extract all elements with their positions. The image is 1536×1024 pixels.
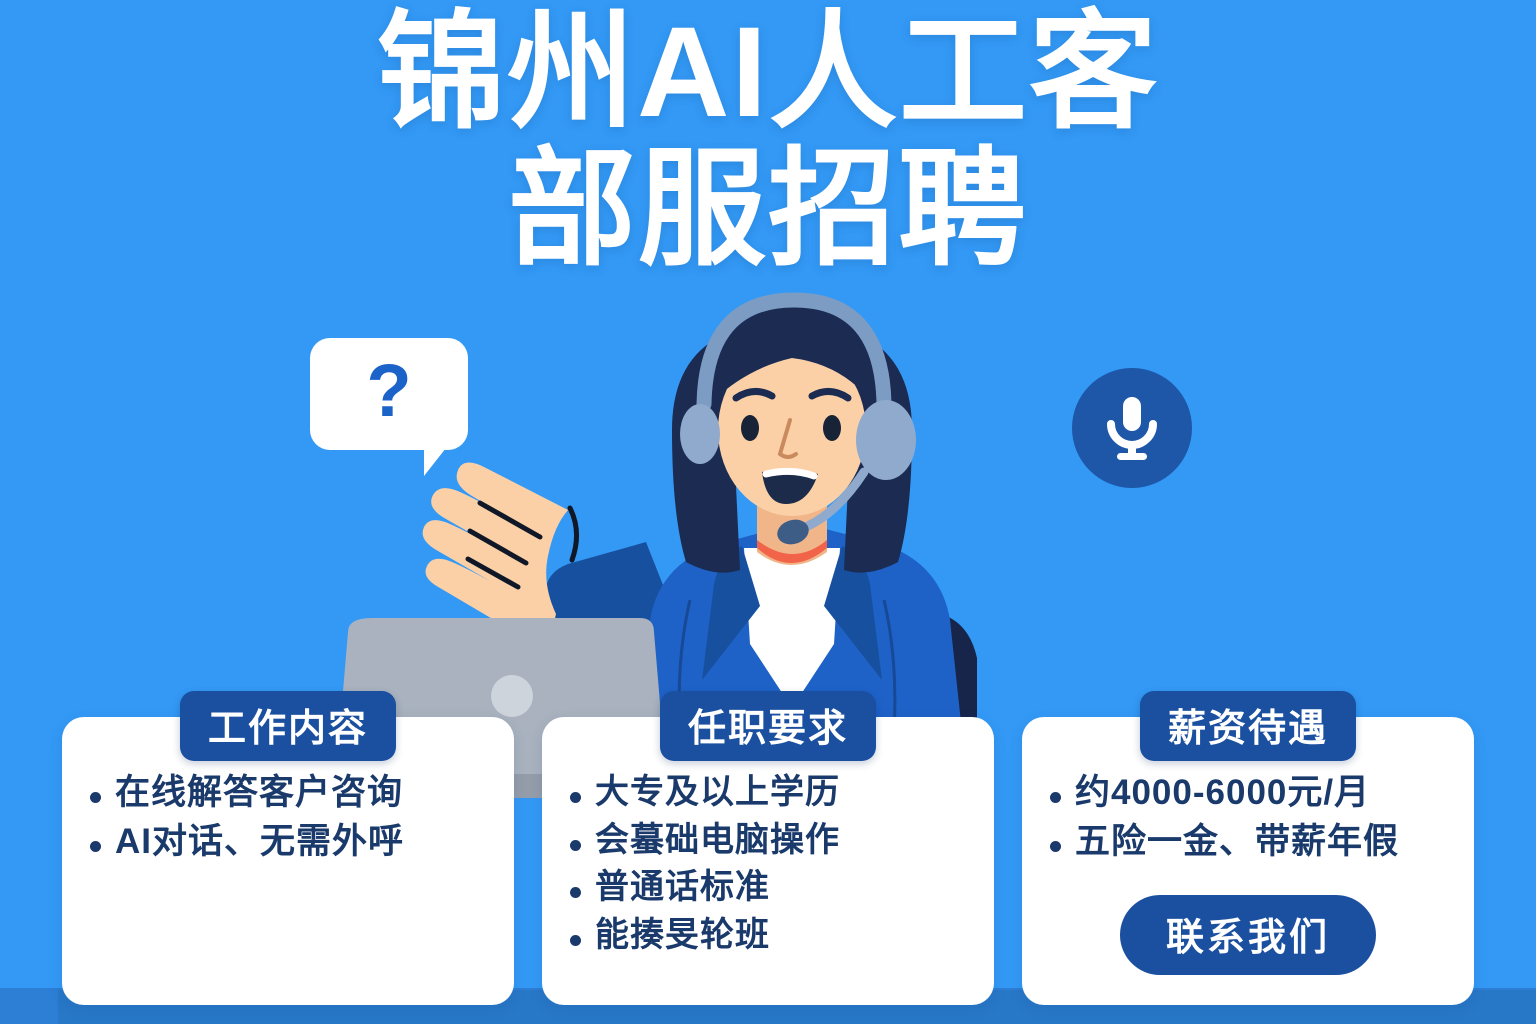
question-mark-glyph: ? — [366, 354, 411, 428]
card-heading-requirements: 任职要求 — [660, 691, 876, 761]
eye-left — [741, 415, 759, 441]
recruitment-poster: 锦州AI人工客 部服招聘 ? 工作内容 在线解答客户咨询 AI — [0, 0, 1536, 1024]
bullet-text: 大专及以上学历 — [595, 771, 840, 815]
info-cards-row: 工作内容 在线解答客户咨询 AI对话、无需外呼 任职要求 大专及以上学历 — [0, 695, 1536, 1005]
bullet-dot-icon — [570, 792, 581, 803]
list-item: 约4000-6000元/月 — [1042, 771, 1454, 816]
bullet-text: 能揍旻轮班 — [595, 914, 770, 958]
card-heading-job-content: 工作内容 — [180, 691, 396, 761]
bullet-text: 普通话标准 — [595, 866, 770, 910]
bullet-text: 五险一金、带薪年假 — [1075, 820, 1399, 865]
list-item: 能揍旻轮班 — [562, 914, 974, 958]
microphone-badge[interactable] — [1072, 368, 1192, 488]
bullet-text: 会蟇础电脑操作 — [595, 819, 840, 863]
bullet-text: AI对话、无需外呼 — [115, 820, 404, 865]
bullet-dot-icon — [570, 935, 581, 946]
bullet-dot-icon — [90, 841, 101, 852]
bullet-list-salary: 约4000-6000元/月 五险一金、带薪年假 — [1036, 771, 1460, 865]
bullet-dot-icon — [570, 887, 581, 898]
card-heading-salary: 薪资待遇 — [1140, 691, 1356, 761]
eye-right — [823, 415, 841, 441]
card-requirements: 任职要求 大专及以上学历 会蟇础电脑操作 普通话标准 能揍旻轮班 — [542, 717, 994, 1005]
bullet-text: 在线解答客户咨询 — [115, 771, 403, 816]
card-salary: 薪资待遇 约4000-6000元/月 五险一金、带薪年假 联系我们 — [1022, 717, 1474, 1005]
bullet-list-requirements: 大专及以上学历 会蟇础电脑操作 普通话标准 能揍旻轮班 — [556, 771, 980, 957]
bullet-list-job-content: 在线解答客户咨询 AI对话、无需外呼 — [76, 771, 500, 865]
list-item: 在线解答客户咨询 — [82, 771, 494, 816]
microphone-icon — [1101, 393, 1163, 463]
list-item: 五险一金、带薪年假 — [1042, 820, 1454, 865]
list-item: 大专及以上学历 — [562, 771, 974, 815]
headset-cup-left — [680, 404, 720, 464]
bullet-dot-icon — [1050, 841, 1061, 852]
bullet-dot-icon — [90, 792, 101, 803]
bullet-dot-icon — [1050, 792, 1061, 803]
card-job-content: 工作内容 在线解答客户咨询 AI对话、无需外呼 — [62, 717, 514, 1005]
list-item: 普通话标准 — [562, 866, 974, 910]
list-item: AI对话、无需外呼 — [82, 820, 494, 865]
contact-us-button[interactable]: 联系我们 — [1120, 895, 1376, 975]
list-item: 会蟇础电脑操作 — [562, 819, 974, 863]
bullet-dot-icon — [570, 840, 581, 851]
question-speech-bubble-icon: ? — [310, 338, 468, 450]
bullet-text: 约4000-6000元/月 — [1075, 771, 1370, 816]
